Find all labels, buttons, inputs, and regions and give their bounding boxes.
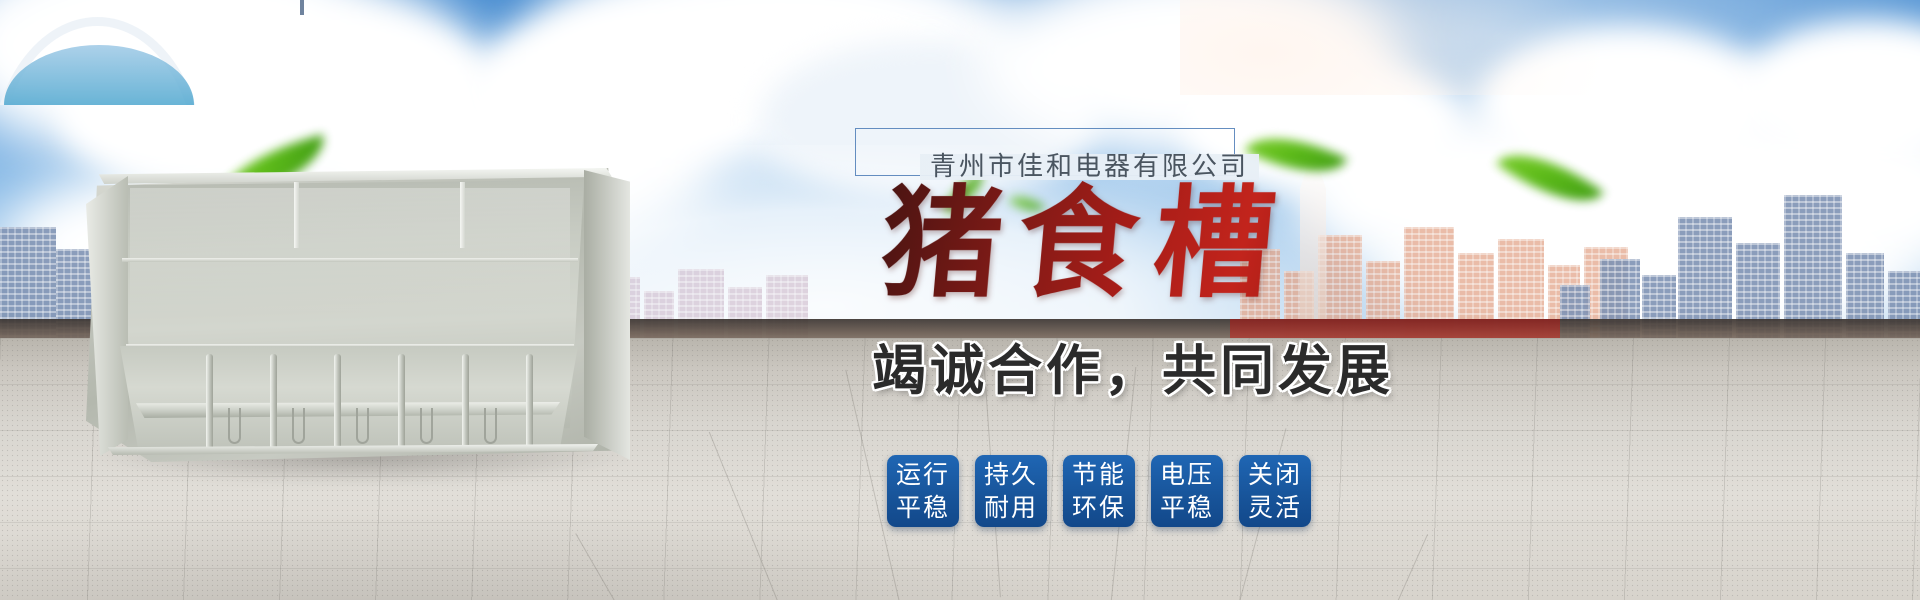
feature-badge-line1: 运行 — [896, 458, 950, 491]
feature-badge-line2: 耐用 — [984, 491, 1038, 524]
tv-tower-icon — [300, 0, 304, 15]
feature-badge[interactable]: 节能 环保 — [1063, 455, 1135, 527]
feature-badge-line1: 关闭 — [1248, 458, 1302, 491]
feature-badge[interactable]: 持久 耐用 — [975, 455, 1047, 527]
product-image-pig-feeder — [78, 158, 638, 488]
feature-badge-line2: 环保 — [1072, 491, 1126, 524]
feature-badge-line1: 持久 — [984, 458, 1038, 491]
feature-badge-line2: 平稳 — [1160, 491, 1214, 524]
feature-badge-line2: 平稳 — [896, 491, 950, 524]
promo-banner: 青州市佳和电器有限公司 猪食槽 竭诚合作，共同发展 运行 平稳 持久 耐用 节能… — [0, 0, 1920, 600]
arch-bridge — [0, 0, 205, 105]
feature-badge[interactable]: 关闭 灵活 — [1239, 455, 1311, 527]
feature-badge-line1: 节能 — [1072, 458, 1126, 491]
feature-badge[interactable]: 电压 平稳 — [1151, 455, 1223, 527]
feature-badge-list: 运行 平稳 持久 耐用 节能 环保 电压 平稳 关闭 灵活 — [887, 455, 1311, 527]
feature-badge-line2: 灵活 — [1248, 491, 1302, 524]
feature-badge[interactable]: 运行 平稳 — [887, 455, 959, 527]
page-subtitle: 竭诚合作，共同发展 — [872, 340, 1394, 402]
feature-badge-line1: 电压 — [1160, 458, 1214, 491]
page-title: 猪食槽 — [876, 176, 1368, 312]
